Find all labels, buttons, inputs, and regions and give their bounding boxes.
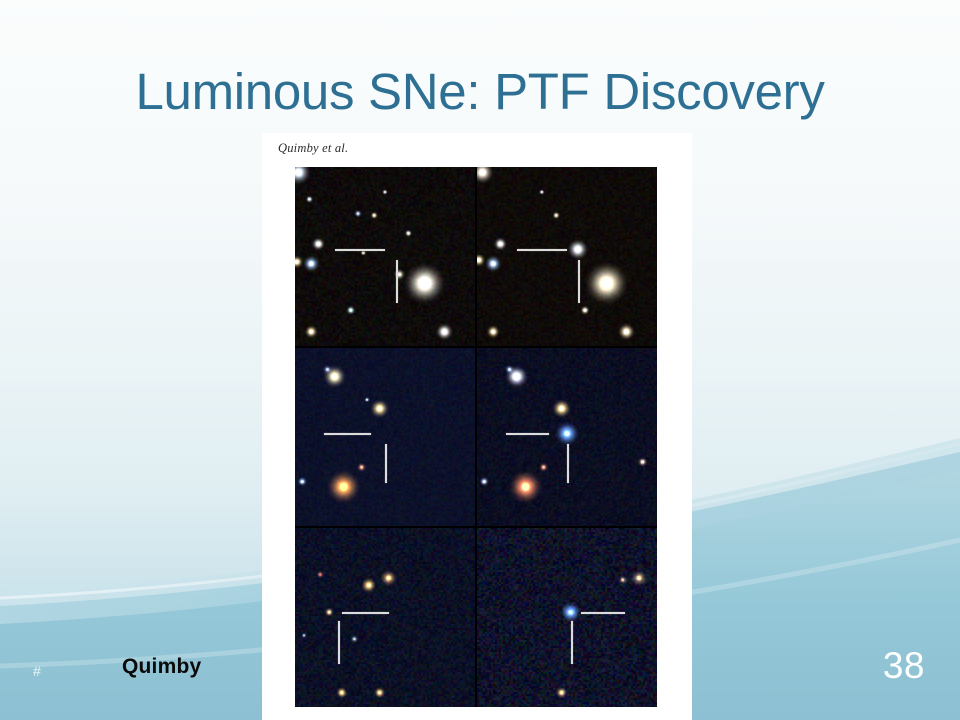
footer-author-label: Quimby xyxy=(122,655,201,679)
image-panel xyxy=(477,167,657,346)
crosshair-horizontal-tick xyxy=(506,433,549,435)
crosshair-vertical-tick xyxy=(578,260,580,303)
crosshair-horizontal-tick xyxy=(335,249,385,251)
page-number: 38 xyxy=(883,645,925,687)
crosshair-vertical-tick xyxy=(571,621,573,664)
crosshair-vertical-tick xyxy=(396,260,398,303)
crosshair-vertical-tick xyxy=(385,444,387,483)
supernova-image-mosaic xyxy=(295,167,657,707)
slide: Luminous SNe: PTF Discovery Quimby et al… xyxy=(0,0,960,720)
crosshair-horizontal-tick xyxy=(342,612,389,614)
image-panel xyxy=(295,528,475,707)
crosshair-marker xyxy=(477,348,657,527)
crosshair-horizontal-tick xyxy=(581,612,624,614)
crosshair-vertical-tick xyxy=(567,444,569,483)
image-panel xyxy=(477,348,657,527)
crosshair-marker xyxy=(477,167,657,346)
crosshair-marker xyxy=(295,528,475,707)
crosshair-marker xyxy=(295,167,475,346)
crosshair-horizontal-tick xyxy=(517,249,567,251)
slide-title: Luminous SNe: PTF Discovery xyxy=(60,63,900,120)
crosshair-marker xyxy=(295,348,475,527)
image-panel xyxy=(477,528,657,707)
figure-card: Quimby et al. xyxy=(262,133,692,720)
figure-caption: Quimby et al. xyxy=(278,141,348,156)
image-panel xyxy=(295,167,475,346)
crosshair-vertical-tick xyxy=(338,621,340,664)
crosshair-horizontal-tick xyxy=(324,433,371,435)
image-panel xyxy=(295,348,475,527)
crosshair-marker xyxy=(477,528,657,707)
slide-number-placeholder: # xyxy=(33,663,41,679)
